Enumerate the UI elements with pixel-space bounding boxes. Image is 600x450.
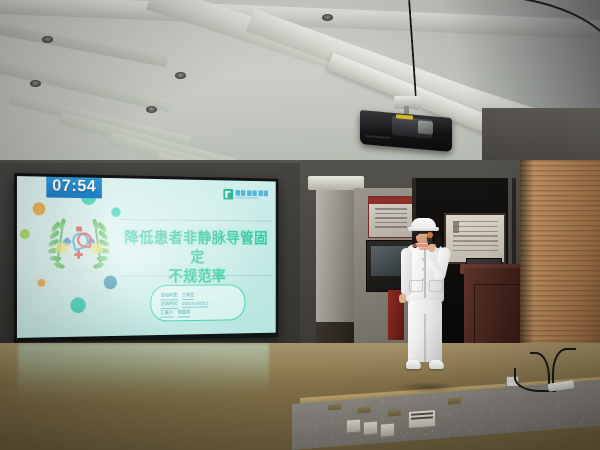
uniform-pocket-left — [409, 280, 423, 292]
floor-plate — [328, 404, 341, 411]
presenter-shoe-left — [406, 360, 421, 369]
presenter-lower-hand — [399, 294, 406, 303]
red-cross-icon — [74, 250, 83, 259]
uniform-pocket-right — [429, 280, 443, 292]
floor-plate — [388, 410, 401, 417]
countdown-timer: 07:54 — [46, 176, 102, 198]
banner-header-bar — [369, 197, 413, 204]
slide-title: 降低患者非静脉导管固定 不规范率 — [121, 229, 272, 287]
nursing-wreath-emblem — [51, 216, 106, 273]
uniform-placket — [424, 248, 426, 298]
trouser-seam — [424, 314, 426, 362]
dot-green-small — [111, 207, 120, 217]
dot-orange — [33, 202, 46, 215]
info-row-department: 活动科室: 三病区 — [160, 292, 194, 300]
support-pillar — [316, 176, 356, 346]
info-key-period: 活动时间: — [160, 301, 178, 308]
slide-title-line1: 降低患者非静脉导管固定 — [121, 229, 272, 268]
dot-lime — [20, 229, 30, 239]
dot-turquoise — [70, 297, 85, 313]
presenter-shoe-right — [429, 360, 444, 369]
info-value-department: 三病区 — [182, 292, 194, 299]
uniform-button — [422, 258, 425, 261]
microphone-head — [427, 232, 433, 238]
hospital-logo-mark — [223, 189, 233, 200]
info-row-presenter: 汇报人: 朱医师 — [160, 310, 190, 318]
floor-plate — [358, 407, 371, 414]
info-key-department: 活动科室: — [160, 292, 178, 299]
divider-top — [121, 219, 272, 221]
emblem-bottom-arc — [67, 262, 92, 273]
plaque-text-lines — [453, 221, 498, 256]
projector-lens — [418, 120, 433, 134]
info-row-period: 活动时间: 2022.8-2023.2 — [160, 301, 208, 309]
nurse-cap-brim — [408, 227, 439, 231]
dot-blue — [104, 276, 117, 290]
info-value-period: 2022.8-2023.2 — [182, 301, 209, 308]
hospital-logo — [223, 189, 268, 200]
presentation-room-scene: 降低患者非静脉导管固定 不规范率 活动科室: 三病区 活动时间: 2022.8-… — [0, 0, 600, 450]
floor-plate — [448, 398, 461, 405]
info-key-presenter: 汇报人: — [160, 310, 174, 317]
uniform-button — [422, 268, 425, 271]
projected-slide: 降低患者非静脉导管固定 不规范率 活动科室: 三病区 活动时间: 2022.8-… — [17, 176, 276, 338]
ceiling-projector — [352, 96, 462, 158]
emblem-top-mark — [76, 227, 82, 232]
projection-screen-frame: 降低患者非静脉导管固定 不规范率 活动科室: 三病区 活动时间: 2022.8-… — [14, 173, 278, 343]
floor-outlet[interactable] — [363, 420, 378, 435]
floor-outlet[interactable] — [346, 418, 361, 433]
floor-outlet[interactable] — [380, 422, 395, 437]
slide-info-box: 活动科室: 三病区 活动时间: 2022.8-2023.2 汇报人: 朱医师 — [150, 284, 245, 321]
info-value-presenter: 朱医师 — [178, 310, 190, 317]
projector-cable-run — [441, 0, 600, 106]
dot-amber-small — [38, 279, 46, 287]
floor-control-panel[interactable] — [408, 409, 436, 429]
nurse-presenter — [398, 218, 454, 388]
hospital-logo-text — [235, 190, 268, 199]
